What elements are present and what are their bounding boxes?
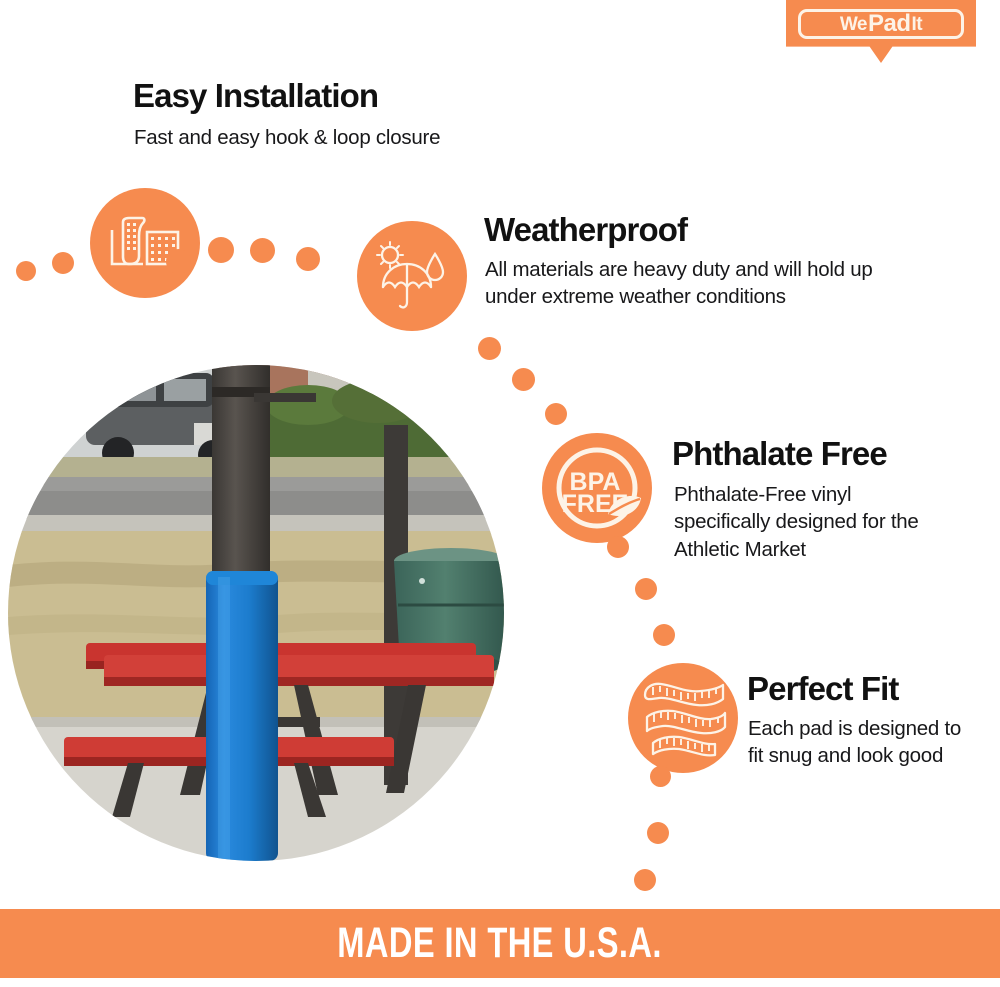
path-dot — [250, 238, 275, 263]
logo-text-we: We — [840, 15, 867, 34]
feature-title-easy-installation: Easy Installation — [133, 79, 378, 114]
path-dot — [653, 624, 675, 646]
feature-title-weatherproof: Weatherproof — [484, 213, 687, 248]
logo-text-it: It — [912, 15, 923, 34]
feature-title-phthalate-free: Phthalate Free — [672, 437, 887, 472]
path-dot — [512, 368, 535, 391]
path-dot — [16, 261, 36, 281]
path-dot — [634, 869, 656, 891]
path-dot — [478, 337, 501, 360]
logo-plate: WePadIt — [798, 9, 964, 39]
path-dot — [650, 766, 671, 787]
feature-description-weatherproof: All materials are heavy duty and will ho… — [485, 256, 905, 311]
path-dot — [208, 237, 234, 263]
path-dot — [607, 536, 629, 558]
feature-description-perfect-fit: Each pad is designed to fit snug and loo… — [748, 715, 976, 770]
path-dot — [635, 578, 657, 600]
measuring-tape-icon — [628, 663, 738, 773]
path-dot — [52, 252, 74, 274]
path-dot — [296, 247, 320, 271]
made-in-usa-banner: MADE IN THE U.S.A. — [0, 909, 1000, 978]
logo-text-pad: Pad — [868, 12, 911, 36]
brand-logo: WePadIt — [786, 0, 976, 63]
product-photo — [8, 365, 504, 861]
feature-description-phthalate-free: Phthalate-Free vinyl specifically design… — [674, 481, 936, 563]
hook-and-loop-strip-icon — [90, 188, 200, 298]
infographic-page: WePadIt Easy Installation Fast and easy … — [0, 0, 1000, 987]
made-in-usa-text: MADE IN THE U.S.A. — [338, 919, 663, 968]
feature-description-easy-installation: Fast and easy hook & loop closure — [134, 124, 554, 151]
umbrella-sun-raindrop-icon — [357, 221, 467, 331]
path-dot — [166, 249, 191, 274]
path-dot — [545, 403, 567, 425]
feature-title-perfect-fit: Perfect Fit — [747, 672, 898, 707]
bpa-free-leaf-icon: BPA FREE — [542, 433, 652, 543]
path-dot — [647, 822, 669, 844]
